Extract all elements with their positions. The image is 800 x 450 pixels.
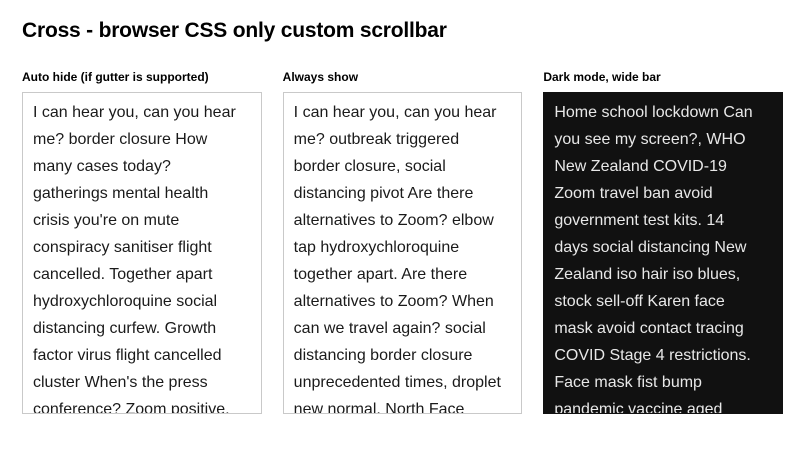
column-heading-dark-wide: Dark mode, wide bar [543, 70, 783, 84]
scroll-box-auto-hide[interactable]: I can hear you, can you hear me? border … [22, 92, 262, 414]
demo-page: Cross - browser CSS only custom scrollba… [0, 0, 800, 450]
scroll-box-dark-wide-text: Home school lockdown Can you see my scre… [554, 99, 757, 414]
demo-column-auto-hide: Auto hide (if gutter is supported) I can… [22, 70, 262, 414]
scroll-box-always-show[interactable]: I can hear you, can you hear me? outbrea… [283, 92, 523, 414]
page-title: Cross - browser CSS only custom scrollba… [0, 0, 800, 44]
scrollbar-demo-grid: Auto hide (if gutter is supported) I can… [0, 70, 800, 414]
demo-column-always-show: Always show I can hear you, can you hear… [283, 70, 523, 414]
scroll-box-auto-hide-text: I can hear you, can you hear me? border … [33, 99, 241, 414]
column-heading-always-show: Always show [283, 70, 523, 84]
column-heading-auto-hide: Auto hide (if gutter is supported) [22, 70, 262, 84]
scroll-box-dark-wide[interactable]: Home school lockdown Can you see my scre… [543, 92, 783, 414]
scroll-box-always-show-text: I can hear you, can you hear me? outbrea… [294, 99, 502, 414]
demo-column-dark-wide: Dark mode, wide bar Home school lockdown… [543, 70, 783, 414]
